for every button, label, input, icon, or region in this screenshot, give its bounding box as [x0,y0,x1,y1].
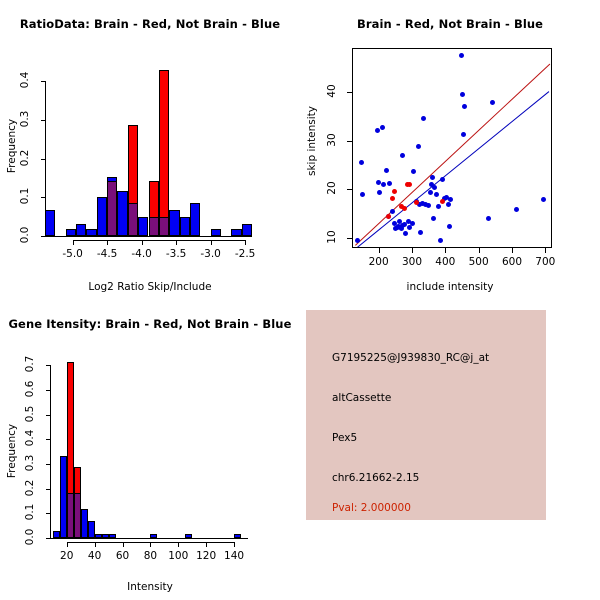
scatter-point-not-brain [377,190,382,195]
scatter-point-not-brain [387,181,392,186]
scatter-x-axis-tick [545,248,546,253]
scatter-y-axis-tick-label: 40 [326,79,338,103]
y-axis-tick-label: 0.2 [19,145,31,171]
locus-label: chr6.21662-2.15 [332,472,419,484]
x-axis-tick [206,542,207,547]
scatter-point-not-brain [411,169,416,174]
r-plot-figure: RatioData: Brain - Red, Not Brain - Blue… [0,0,600,600]
gene-info-box: G7195225@J939830_RC@j_at altCassette Pex… [306,310,546,520]
histogram-bar-not-brain [81,509,88,538]
y-axis-tick [41,81,46,82]
scatter-plot-area: 10203040200300400500600700 [300,0,600,300]
scatter-point-not-brain [461,132,466,137]
y-axis-tick [46,464,51,465]
scatter-y-axis-tick [347,238,352,239]
scatter-point-not-brain [360,192,365,197]
histogram-bar-brain [159,70,169,236]
histogram-bar-not-brain [169,210,179,236]
scatter-point-not-brain [355,238,360,243]
y-axis-tick-label: 0.0 [24,524,36,550]
y-axis-tick-label: 0.6 [24,376,36,402]
histogram-bar-overlap [107,181,117,236]
x-axis-tick [245,240,246,245]
panel-gene-histogram: Gene Itensity: Brain - Red, Not Brain - … [0,300,300,600]
scatter-point-brain [414,200,419,205]
scatter-point-not-brain [432,185,437,190]
x-axis-tick [123,542,124,547]
scatter-y-axis-tick-label: 20 [326,176,338,200]
histogram-bar-overlap [74,493,81,538]
scatter-x-axis-tick-label: 700 [525,256,565,268]
gene-symbol-label: Pex5 [332,432,357,444]
histogram-bar-not-brain [97,197,107,236]
histogram-bar-not-brain [76,224,86,236]
scatter-x-axis-tick [479,248,480,253]
x-axis-tick-label: 140 [214,550,254,562]
gene-histogram-plot-area: 0.00.10.20.30.40.50.60.72040608010012014… [0,300,300,600]
y-axis-tick-label: 0.3 [19,106,31,132]
y-axis-tick [46,390,51,391]
y-axis-tick [46,513,51,514]
x-axis-tick [95,542,96,547]
histogram-bar-not-brain [180,217,190,236]
scatter-point-not-brain [428,190,433,195]
scatter-point-not-brain [426,203,431,208]
scatter-point-not-brain [448,197,453,202]
scatter-point-not-brain [436,204,441,209]
scatter-y-axis-tick [347,189,352,190]
scatter-point-brain [386,214,391,219]
histogram-bar-not-brain [231,229,241,236]
histogram-bar-not-brain [88,521,95,538]
scatter-point-brain [440,199,445,204]
scatter-y-axis-tick [347,141,352,142]
x-axis-tick [178,542,179,547]
scatter-point-not-brain [418,230,423,235]
x-axis-tick [142,240,143,245]
histogram-bar-not-brain [138,217,148,236]
x-axis-tick [176,240,177,245]
scatter-point-not-brain [403,231,408,236]
panel-gene-info: G7195225@J939830_RC@j_at altCassette Pex… [300,300,600,600]
scatter-y-axis-tick-label: 10 [326,225,338,249]
scatter-y-axis-tick-label: 30 [326,128,338,152]
histogram-baseline [50,538,248,539]
scatter-point-not-brain [400,153,405,158]
panel-scatter: Brain - Red, Not Brain - Blue skip inten… [300,0,600,300]
histogram-bar-overlap [128,203,138,236]
x-axis-tick [73,240,74,245]
probe-id-label: G7195225@J939830_RC@j_at [332,352,489,364]
histogram-bar-not-brain [211,229,221,236]
scatter-point-not-brain [541,197,546,202]
scatter-point-not-brain [416,144,421,149]
scatter-point-not-brain [446,202,451,207]
histogram-bar-not-brain [66,229,76,236]
histogram-bar-not-brain [190,203,200,236]
scatter-y-axis-tick [347,92,352,93]
y-axis-tick-label: 0.5 [24,401,36,427]
scatter-point-not-brain [514,207,519,212]
panel-ratio-histogram: RatioData: Brain - Red, Not Brain - Blue… [0,0,300,300]
x-axis-tick [150,542,151,547]
scatter-x-axis-tick [379,248,380,253]
y-axis-line [50,365,51,538]
scatter-point-not-brain [447,224,452,229]
event-type-label: altCassette [332,392,391,404]
histogram-bar-not-brain [60,456,67,538]
histogram-bar-not-brain [117,191,127,236]
y-axis-tick-label: 0.4 [19,67,31,93]
scatter-point-not-brain [440,177,445,182]
y-axis-tick [46,365,51,366]
scatter-x-axis-tick [445,248,446,253]
y-axis-tick [41,120,46,121]
scatter-point-not-brain [421,116,426,121]
scatter-clip [353,49,551,247]
scatter-point-not-brain [410,221,415,226]
scatter-point-not-brain [375,128,380,133]
pvalue-label: Pval: 2.000000 [332,502,411,514]
y-axis-tick [46,489,51,490]
scatter-point-not-brain [380,125,385,130]
scatter-point-brain [392,189,397,194]
y-axis-tick [41,236,46,237]
scatter-point-not-brain [381,182,386,187]
y-axis-tick [46,538,51,539]
scatter-point-brain [407,182,412,187]
scatter-point-brain [402,206,407,211]
y-axis-tick-label: 0.1 [24,499,36,525]
regression-line-brain-fit [355,64,550,246]
histogram-bar-overlap [149,217,159,236]
x-axis-tick [234,542,235,547]
y-axis-tick-label: 0.3 [24,450,36,476]
x-axis-line [73,240,246,241]
y-axis-tick [41,197,46,198]
y-axis-tick-label: 0.4 [24,425,36,451]
histogram-bar-not-brain [45,210,55,236]
scatter-point-not-brain [460,92,465,97]
scatter-point-not-brain [486,216,491,221]
x-axis-tick-label: -2.5 [225,248,265,260]
scatter-point-not-brain [490,100,495,105]
scatter-point-not-brain [390,209,395,214]
scatter-point-not-brain [430,175,435,180]
scatter-point-not-brain [434,192,439,197]
x-axis-tick [107,240,108,245]
scatter-point-not-brain [462,104,467,109]
y-axis-tick-label: 0.7 [24,351,36,377]
scatter-point-brain [390,196,395,201]
scatter-point-not-brain [438,238,443,243]
y-axis-tick-label: 0.0 [19,222,31,248]
x-axis-tick [211,240,212,245]
y-axis-tick [46,415,51,416]
y-axis-tick [46,439,51,440]
histogram-bar-not-brain [53,531,60,538]
scatter-point-not-brain [459,53,464,58]
scatter-x-axis-tick [412,248,413,253]
histogram-bar-not-brain [86,229,96,236]
x-axis-tick [67,542,68,547]
histogram-baseline [45,236,252,237]
y-axis-tick-label: 0.1 [19,183,31,209]
scatter-x-axis-tick [512,248,513,253]
scatter-point-not-brain [431,216,436,221]
histogram-bar-not-brain [242,224,252,236]
histogram-bar-overlap [159,217,169,236]
scatter-point-not-brain [359,160,364,165]
ratio-histogram-plot-area: 0.00.10.20.30.4-5.0-4.5-4.0-3.5-3.0-2.5 [0,0,300,300]
scatter-point-not-brain [384,168,389,173]
y-axis-tick [41,159,46,160]
y-axis-tick-label: 0.2 [24,475,36,501]
histogram-bar-overlap [67,493,74,538]
